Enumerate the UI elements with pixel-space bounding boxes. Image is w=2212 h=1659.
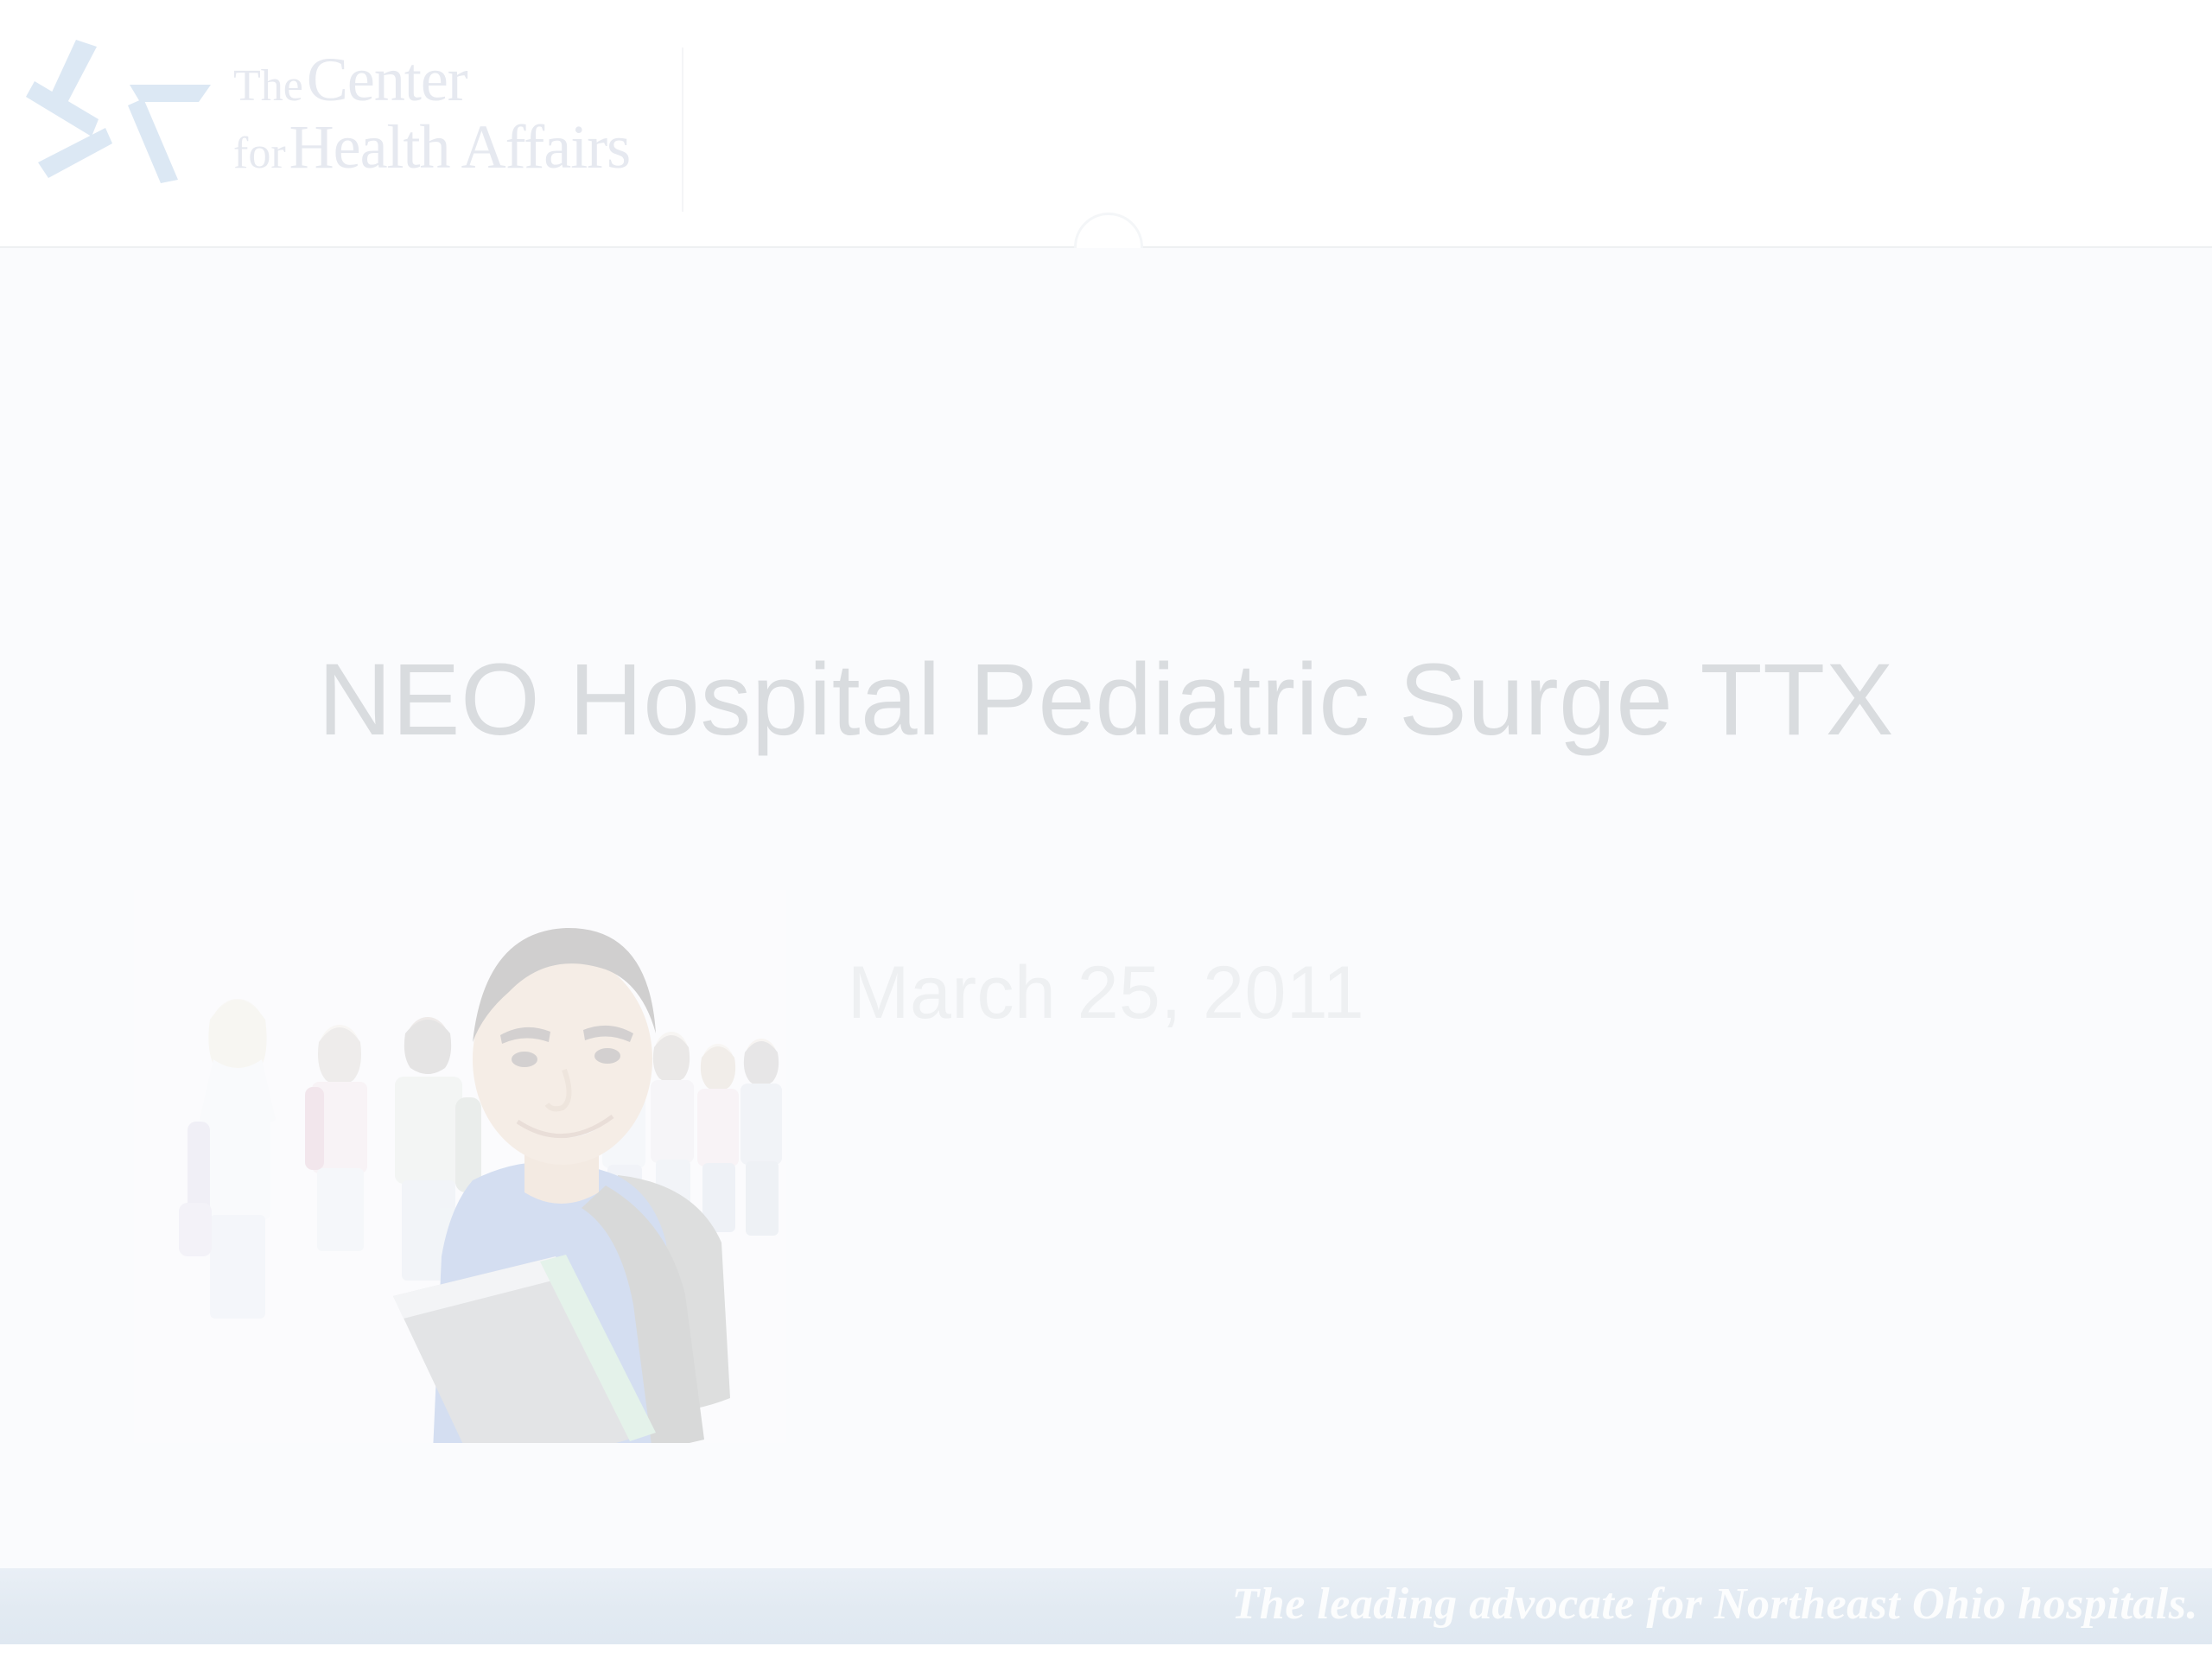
brand-wordmark: The Center for Health Affairs <box>233 48 630 178</box>
brand-line-one: The Center <box>233 48 630 111</box>
footer-tagline: The leading advocate for Northeast Ohio … <box>1232 1579 2198 1630</box>
brand-line-two: for Health Affairs <box>233 116 630 178</box>
brand-for: for <box>233 129 286 178</box>
presentation-slide: The Center for Health Affairs <box>0 0 2212 1659</box>
footer-base-strip <box>0 1644 2212 1659</box>
slide-header: The Center for Health Affairs <box>0 0 2212 247</box>
slide-title: NEO Hospital Pediatric Surge TTX <box>0 641 2212 759</box>
brand-the: The <box>233 61 303 111</box>
brand-vertical-rule <box>682 48 683 212</box>
brand-center: Center <box>307 45 467 114</box>
brand-health-affairs: Health Affairs <box>289 112 631 181</box>
brand-logo: The Center for Health Affairs <box>26 26 683 199</box>
starburst-logo-icon <box>26 33 212 184</box>
slide-subtitle-date: March 25, 2011 <box>0 950 2212 1036</box>
